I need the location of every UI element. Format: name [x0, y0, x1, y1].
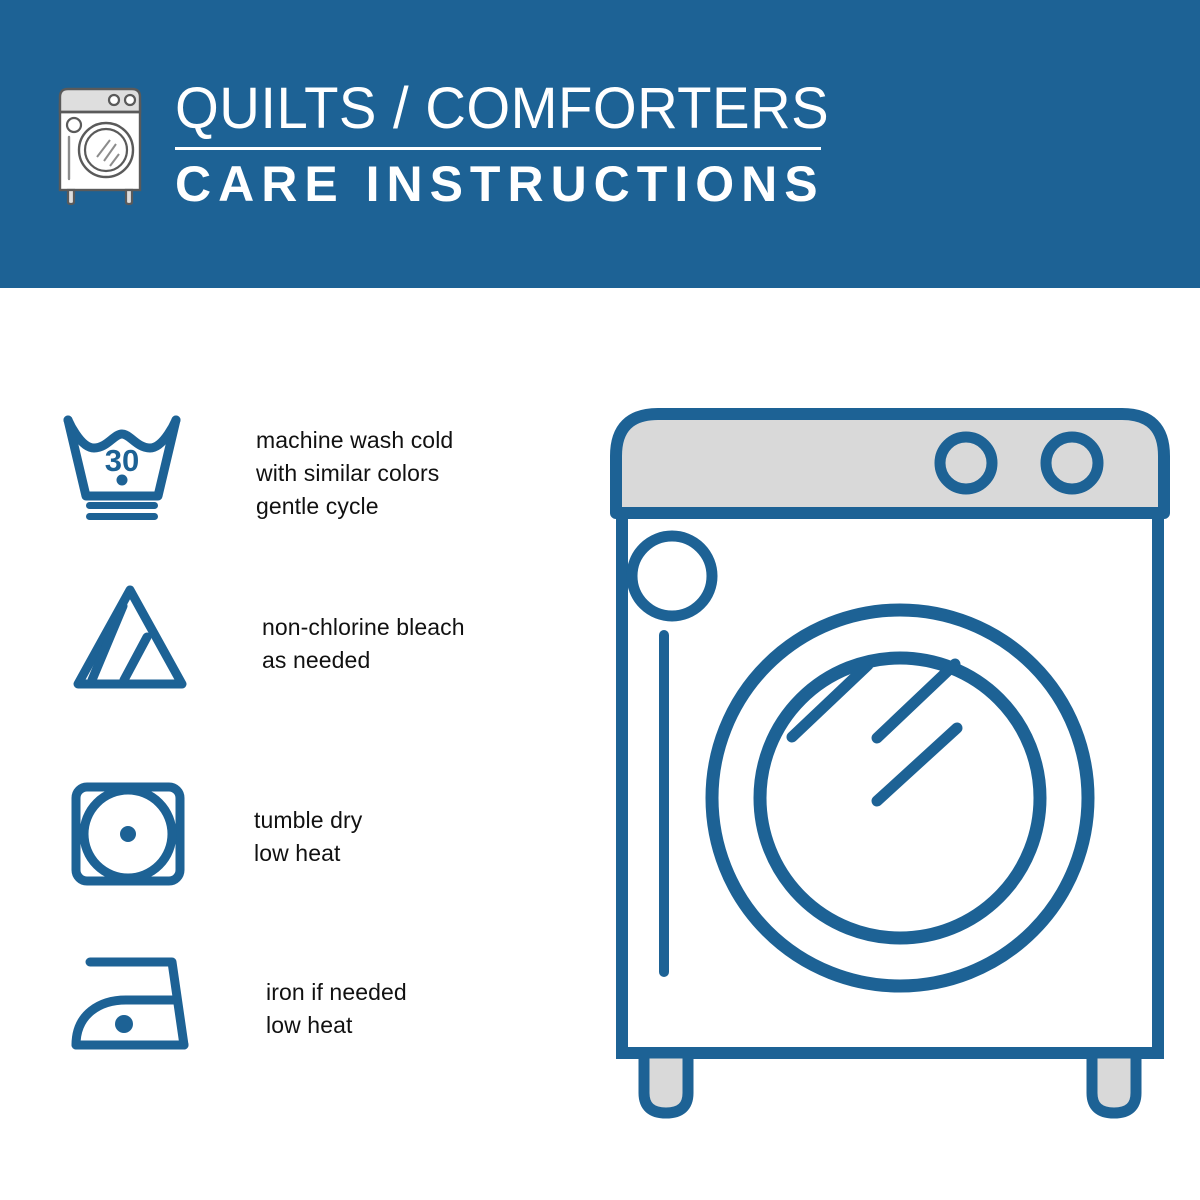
iron-low-heat-icon — [68, 950, 198, 1059]
page-content: 30 machine wash cold with similar colors… — [0, 288, 1200, 1200]
page-header: QUILTS / COMFORTERS CARE INSTRUCTIONS — [0, 0, 1200, 288]
front-load-washing-machine-illustration — [600, 398, 1180, 1128]
door-inner-ring — [760, 658, 1040, 938]
header-title-block: QUILTS / COMFORTERS CARE INSTRUCTIONS — [175, 76, 849, 212]
care-item-label: iron if needed low heat — [266, 976, 407, 1042]
care-item-bleach: non-chlorine bleach as needed — [68, 582, 465, 699]
tumble-dry-low-heat-icon — [70, 782, 186, 891]
knob-right — [1046, 437, 1098, 489]
wash-temperature-value: 30 — [105, 443, 139, 478]
care-item-tumble-dry: tumble dry low heat — [70, 782, 362, 891]
care-item-machine-wash: 30 machine wash cold with similar colors… — [60, 408, 453, 525]
title-divider — [175, 147, 821, 150]
knob-left — [940, 437, 992, 489]
header-inner: QUILTS / COMFORTERS CARE INSTRUCTIONS — [52, 76, 849, 212]
care-item-label: tumble dry low heat — [254, 804, 362, 870]
foot-right — [1092, 1053, 1136, 1113]
non-chlorine-bleach-triangle-icon — [68, 582, 192, 699]
page-subtitle: CARE INSTRUCTIONS — [175, 156, 849, 212]
care-item-label: machine wash cold with similar colors ge… — [256, 424, 453, 523]
foot-left — [644, 1053, 688, 1113]
care-item-iron: iron if needed low heat — [68, 950, 407, 1059]
care-item-label: non-chlorine bleach as needed — [262, 611, 465, 677]
machine-wash-30-gentle-icon: 30 — [60, 408, 196, 525]
page-title: QUILTS / COMFORTERS — [175, 78, 829, 140]
washing-machine-icon — [52, 78, 157, 206]
dispenser-button — [632, 536, 712, 616]
